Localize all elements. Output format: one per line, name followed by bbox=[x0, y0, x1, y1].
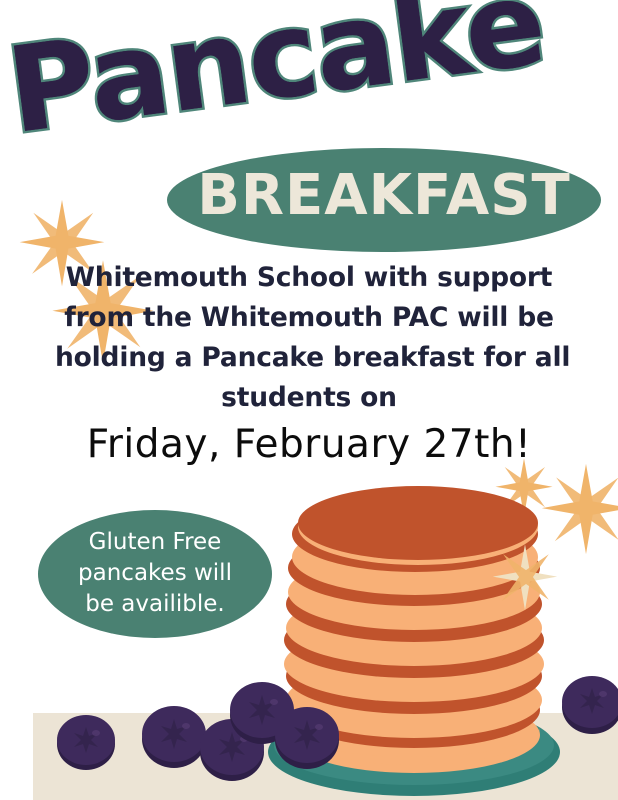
blueberry bbox=[562, 676, 618, 734]
body-line: Whitemouth School with support bbox=[55, 258, 563, 298]
body-paragraph: Whitemouth School with support from the … bbox=[55, 258, 563, 418]
gluten-free-text: Gluten Free pancakes will be availible. bbox=[38, 527, 272, 620]
blueberry bbox=[275, 707, 339, 769]
blueberry bbox=[57, 715, 115, 770]
event-date: Friday, February 27th! bbox=[0, 422, 618, 467]
gluten-free-line: pancakes will bbox=[38, 558, 272, 589]
blueberry bbox=[142, 706, 206, 768]
body-line: from the Whitemouth PAC will be bbox=[55, 298, 563, 338]
gluten-free-line: be availible. bbox=[38, 589, 272, 620]
gluten-free-line: Gluten Free bbox=[38, 527, 272, 558]
breakfast-subtitle: BREAKFAST bbox=[167, 163, 601, 228]
body-line: students on bbox=[55, 378, 563, 418]
body-line: holding a Pancake breakfast for all bbox=[55, 338, 563, 378]
poster-canvas: Pancake Pancake BREAKFAST Whitemouth Sch… bbox=[0, 0, 618, 800]
